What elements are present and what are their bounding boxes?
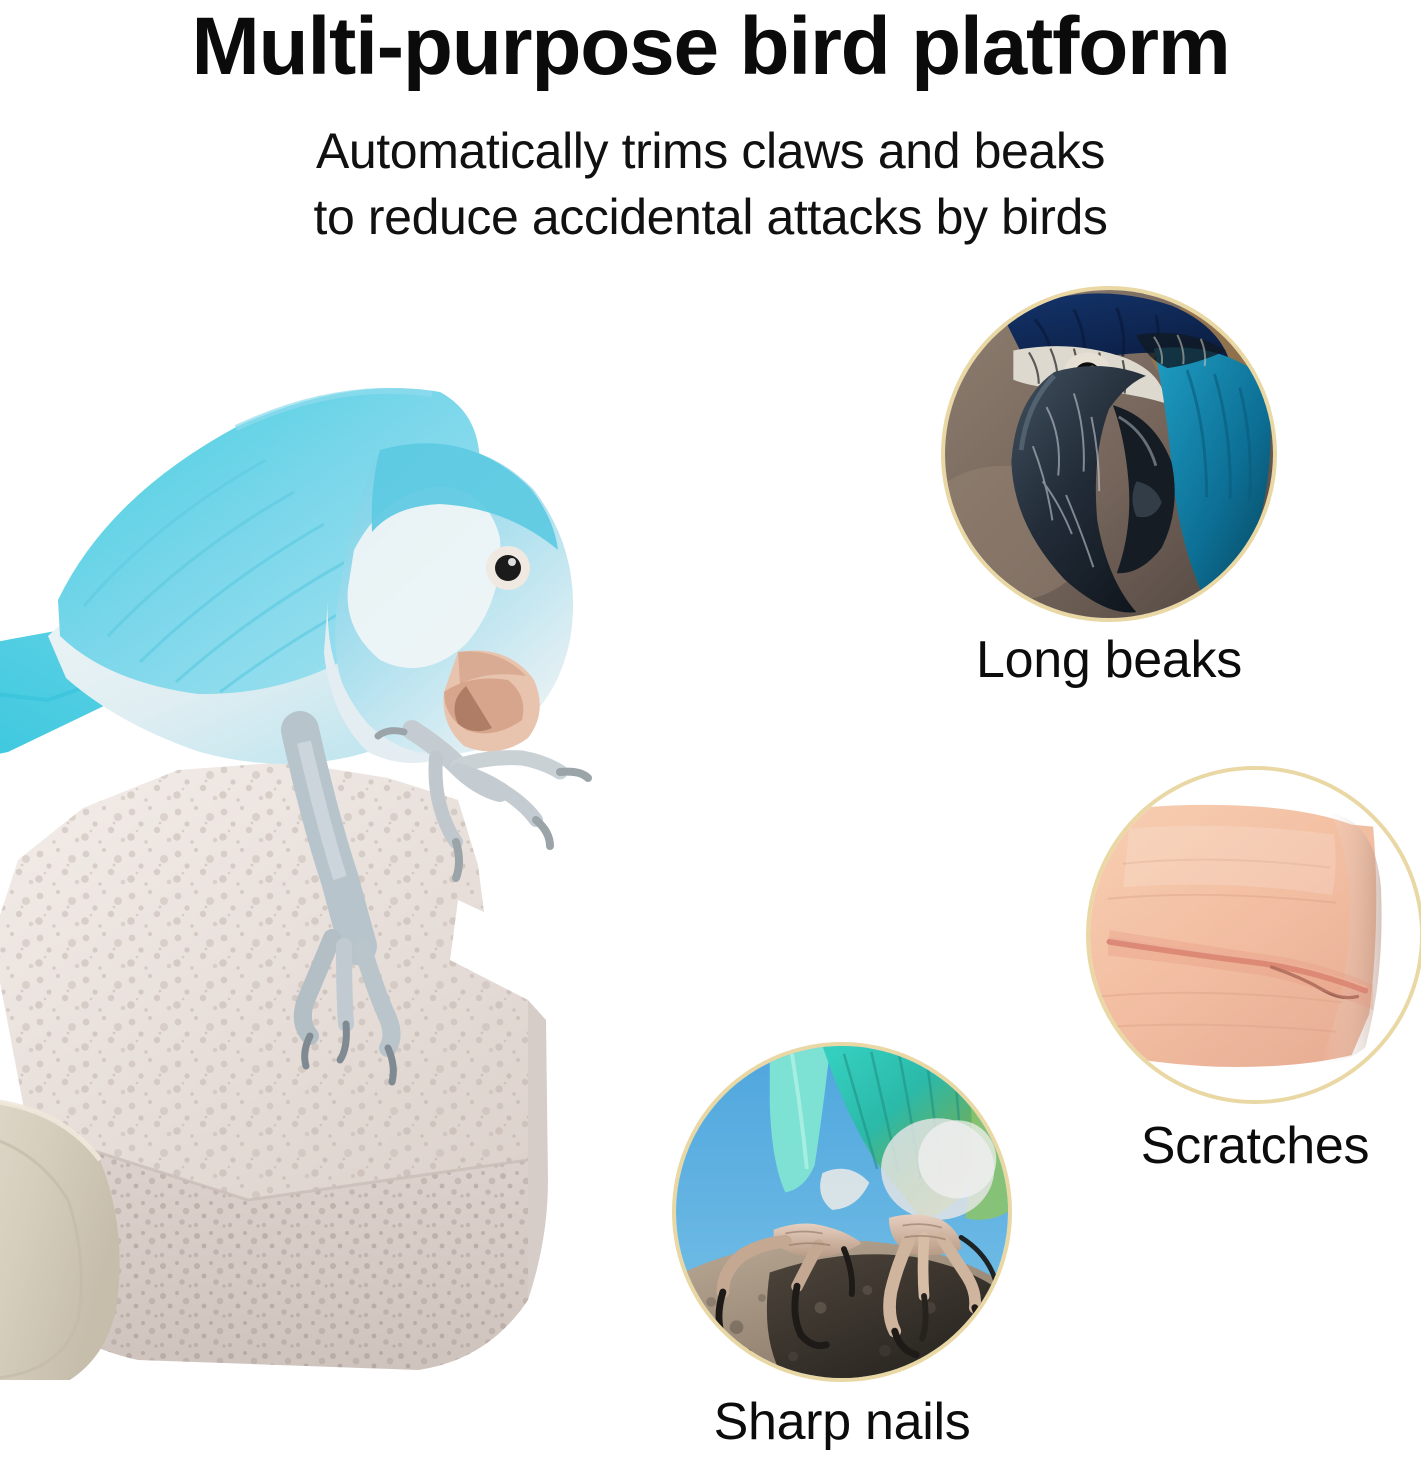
callout-caption-scratches: Scratches — [1086, 1116, 1421, 1176]
subtitle-line-2: to reduce accidental attacks by birds — [0, 184, 1421, 250]
product-infographic: Multi-purpose bird platform Automaticall… — [0, 0, 1421, 1463]
page-subtitle: Automatically trims claws and beaks to r… — [0, 118, 1421, 250]
hero-product-photo — [0, 300, 668, 1380]
long-beaks-photo — [941, 286, 1277, 622]
scratches-photo — [1086, 766, 1421, 1104]
subtitle-line-1: Automatically trims claws and beaks — [0, 118, 1421, 184]
page-title: Multi-purpose bird platform — [0, 2, 1421, 92]
callout-caption-sharp-nails: Sharp nails — [672, 1392, 1012, 1452]
sharp-nails-photo — [672, 1042, 1012, 1382]
callout-caption-long-beaks: Long beaks — [941, 630, 1277, 690]
